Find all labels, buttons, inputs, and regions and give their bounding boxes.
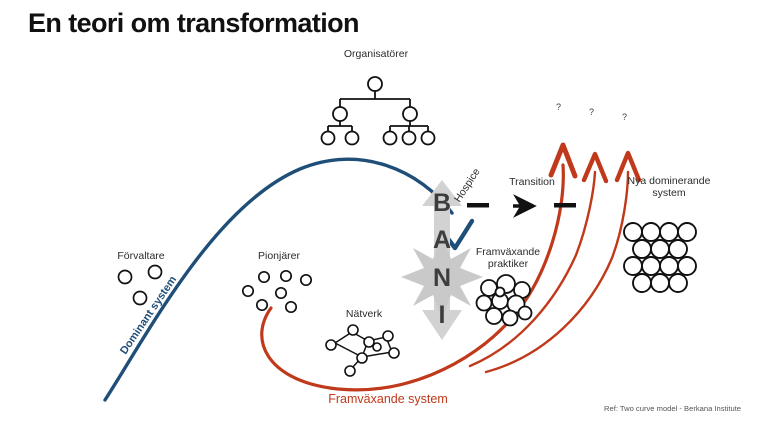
question-mark-2: ? (589, 107, 594, 117)
emerging-branch-3 (486, 172, 628, 372)
new-dominant-circles (624, 223, 696, 292)
transition-label: Transition (496, 176, 568, 188)
pioneers-label: Pionjärer (243, 250, 315, 262)
slide-canvas: En teori om transformation (0, 0, 768, 432)
networks-circles (326, 325, 399, 376)
bani-letter-n: N (433, 267, 451, 291)
organisers-circles (322, 77, 435, 145)
pioneers-circles (243, 271, 311, 312)
new-dominant-label: Nya dominerande system (613, 176, 725, 200)
bani-letter-a: A (433, 229, 451, 253)
question-mark-1: ? (556, 102, 561, 112)
emerging-practices-label-line1: Framväxande (476, 246, 540, 258)
bani-letter-b: B (433, 192, 451, 216)
emerging-system-label: Framväxande system (318, 392, 458, 406)
networks-label: Nätverk (332, 308, 396, 320)
dominant-system-curve (105, 159, 452, 400)
new-dominant-label-line2: system (652, 187, 685, 199)
new-dominant-label-line1: Nya dominerande (628, 175, 711, 187)
bani-letter-i: I (439, 304, 446, 328)
stewards-label: Förvaltare (105, 250, 177, 262)
diagram-svg (0, 0, 768, 432)
emerging-practices-label: Framväxande praktiker (464, 247, 552, 271)
organisers-label: Organisatörer (337, 48, 415, 60)
bani-letters: B A N I (425, 192, 459, 328)
emerging-practices-label-line2: praktiker (488, 258, 528, 270)
reference-note: Ref: Two curve model - Berkana Institute (604, 404, 741, 413)
question-mark-3: ? (622, 112, 627, 122)
emerging-practices-circles (477, 275, 532, 326)
